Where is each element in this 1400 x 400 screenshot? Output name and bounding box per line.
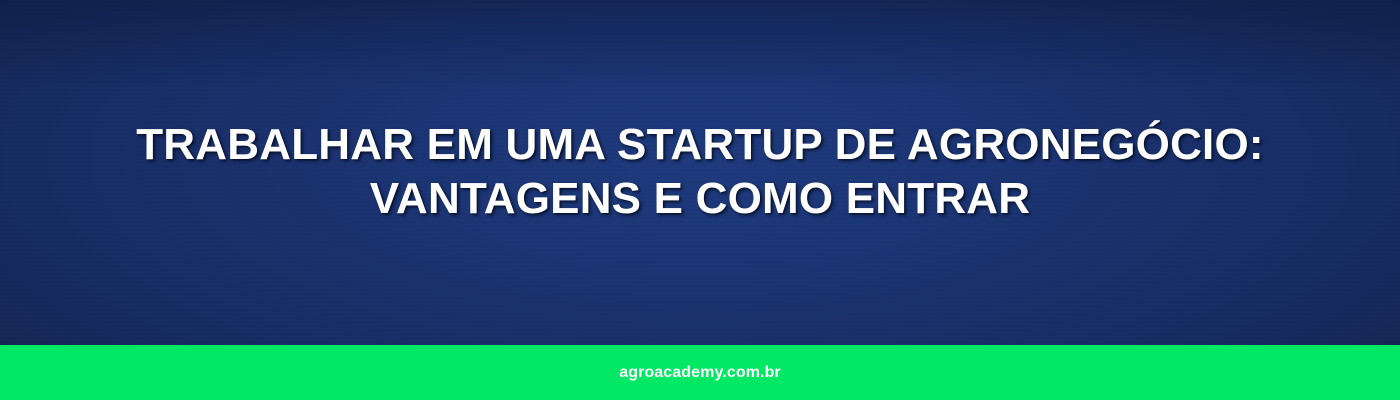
page-title-line-1: TRABALHAR EM UMA STARTUP DE AGRONEGÓCIO: [0, 118, 1400, 172]
footer-bar: agroacademy.com.br [0, 345, 1400, 400]
footer-site-url[interactable]: agroacademy.com.br [619, 365, 781, 381]
hero-banner: TRABALHAR EM UMA STARTUP DE AGRONEGÓCIO:… [0, 0, 1400, 400]
hero-top-shade-overlay [0, 0, 1400, 90]
page-title-line-2: VANTAGENS E COMO ENTRAR [0, 172, 1400, 226]
page-title: TRABALHAR EM UMA STARTUP DE AGRONEGÓCIO:… [0, 118, 1400, 226]
